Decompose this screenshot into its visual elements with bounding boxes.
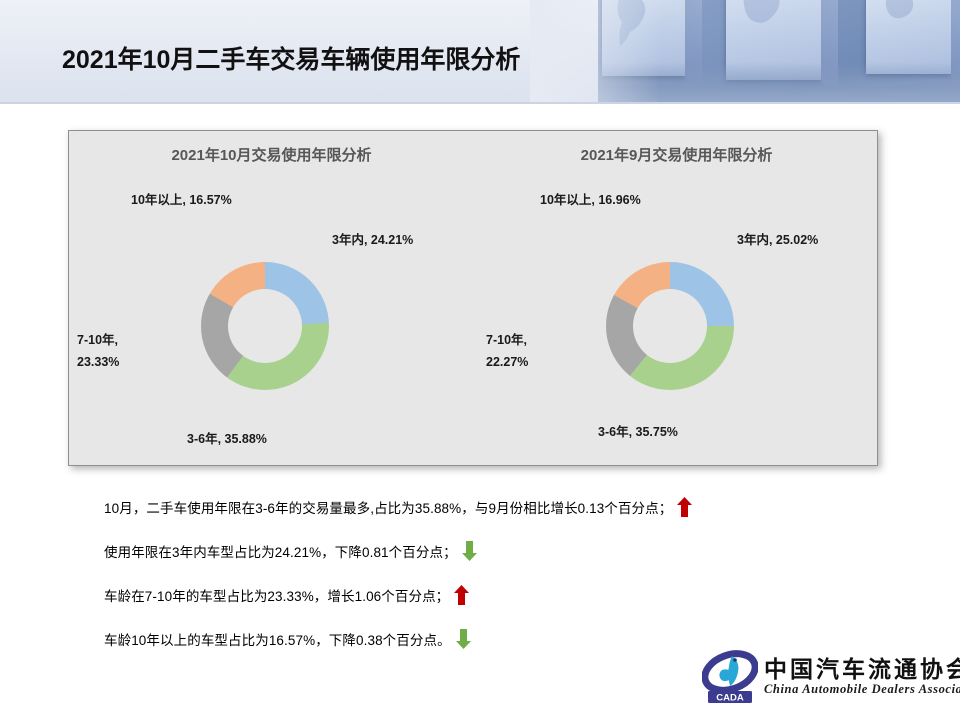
decorative-cube [866,0,952,74]
logo-chinese-name: 中国汽车流通协会 [764,650,960,684]
slice-label-7to10-september-line1: 7-10年, [486,331,527,350]
world-map-texture [866,0,952,74]
donut-chart-september: 2021年9月交易使用年限分析 3年内, 25.02% 3-6年, 35.75%… [474,131,879,467]
down-arrow-green-icon [462,541,477,561]
cada-logo: CADA 中国汽车流通协会 China Automobile Dealers A… [702,648,954,710]
donut-center-hole [633,289,707,363]
banner-divider [0,102,960,104]
donut-chart-october: 2021年10月交易使用年限分析 3年内, 24.21% 3-6年, 35.88… [69,131,474,467]
slice-label-within3-october: 3年内, 24.21% [332,231,413,250]
cada-mark-text: CADA [716,693,744,704]
cada-emblem-icon: CADA [702,650,758,704]
slice-label-7to10-october-line2: 23.33% [77,353,119,372]
page-title: 2021年10月二手车交易车辆使用年限分析 [62,40,520,76]
up-arrow-red-icon [677,497,692,517]
summary-text: 车龄在7-10年的车型占比为23.33%，增长1.06个百分点； [104,585,449,605]
donut-graphic-september [606,262,734,390]
summary-text: 使用年限在3年内车型占比为24.21%，下降0.81个百分点； [104,541,457,561]
slice-label-3to6-october: 3-6年, 35.88% [187,430,267,449]
summary-line: 使用年限在3年内车型占比为24.21%，下降0.81个百分点； [104,529,804,573]
slice-label-7to10-september-line2: 22.27% [486,353,528,372]
banner-gradient-overlay [530,0,660,104]
donut-ring [606,262,734,390]
up-arrow-red-icon [454,585,469,605]
summary-text: 车龄10年以上的车型占比为16.57%，下降0.38个百分点。 [104,629,451,649]
slice-label-within3-september: 3年内, 25.02% [737,231,818,250]
slice-label-7to10-october-line1: 7-10年, [77,331,118,350]
summary-text: 10月，二手车使用年限在3-6年的交易量最多,占比为35.88%，与9月份相比增… [104,497,672,517]
chart-title-september: 2021年9月交易使用年限分析 [474,144,879,165]
logo-english-name: China Automobile Dealers Association [764,682,960,697]
charts-panel: 2021年10月交易使用年限分析 3年内, 24.21% 3-6年, 35.88… [68,130,878,466]
world-map-texture [726,0,822,80]
down-arrow-green-icon [456,629,471,649]
donut-ring [201,262,329,390]
summary-line: 10月，二手车使用年限在3-6年的交易量最多,占比为35.88%，与9月份相比增… [104,485,804,529]
slice-label-over10-september: 10年以上, 16.96% [540,191,641,210]
chart-title-october: 2021年10月交易使用年限分析 [69,144,474,165]
summary-bullets: 10月，二手车使用年限在3-6年的交易量最多,占比为35.88%，与9月份相比增… [104,485,804,661]
slice-label-3to6-september: 3-6年, 35.75% [598,423,678,442]
summary-line: 车龄在7-10年的车型占比为23.33%，增长1.06个百分点； [104,573,804,617]
slice-label-over10-october: 10年以上, 16.57% [131,191,232,210]
decorative-cube [726,0,822,80]
donut-center-hole [228,289,302,363]
donut-graphic-october [201,262,329,390]
summary-line: 车龄10年以上的车型占比为16.57%，下降0.38个百分点。 [104,617,804,661]
